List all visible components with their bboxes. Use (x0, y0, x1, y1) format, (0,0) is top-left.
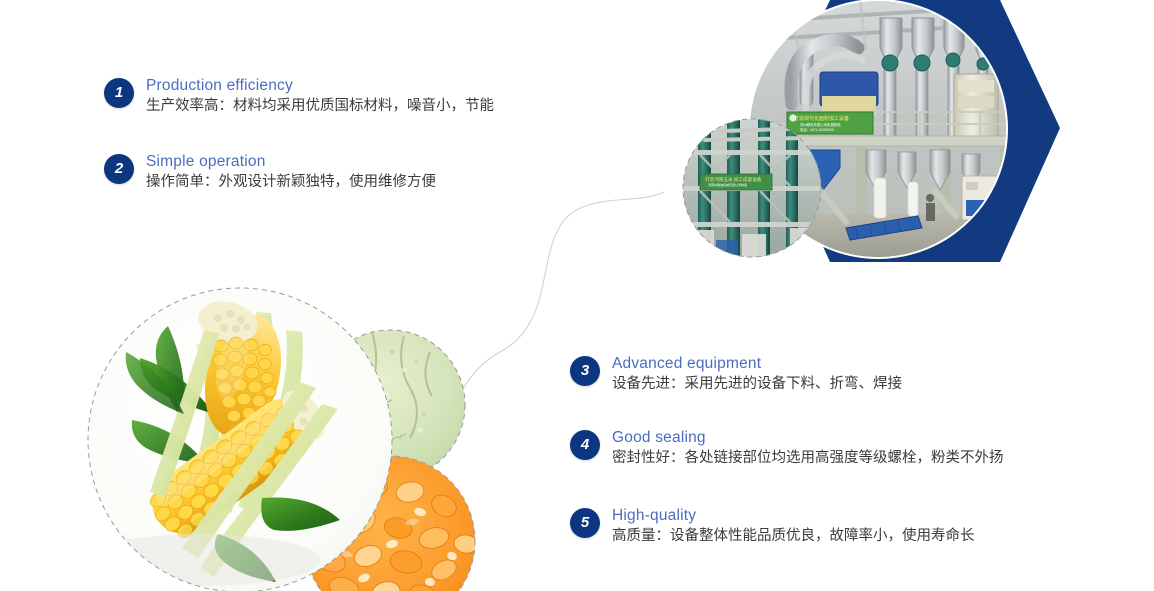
feature-item-5[interactable]: 5 High-quality 高质量：设备整体性能品质优良，故障率小，使用寿命长 (570, 506, 975, 547)
svg-text:打造河南玉米 加工成套设备: 打造河南玉米 加工成套设备 (705, 176, 762, 183)
feature-text-2: Simple operation 操作简单：外观设计新颖独特，使用维修方便 (146, 152, 436, 193)
corn-flour-milling-machine-photo: 打造现代化面粉加工设备 郑州粮机有限公司机械制造 电话：0371-0000000… (748, 0, 1016, 260)
feature-item-3[interactable]: 3 Advanced equipment 设备先进：采用先进的设备下料、折弯、焊… (570, 354, 902, 395)
feature-title-1: Production efficiency (146, 76, 494, 95)
feature-text-3: Advanced equipment 设备先进：采用先进的设备下料、折弯、焊接 (612, 354, 902, 395)
feature-item-1[interactable]: 1 Production efficiency 生产效率高：材料均采用优质国标材… (104, 76, 494, 117)
feature-badge-1: 1 (104, 78, 134, 108)
svg-text:河南省粮油机械有限公司制造: 河南省粮油机械有限公司制造 (708, 182, 747, 187)
feature-badge-3: 3 (570, 356, 600, 386)
feature-desc-5: 高质量：设备整体性能品质优良，故障率小，使用寿命长 (612, 525, 975, 547)
feature-badge-2: 2 (104, 154, 134, 184)
feature-title-2: Simple operation (146, 152, 436, 171)
feature-desc-4: 密封性好：各处链接部位均选用高强度等级螺栓，粉类不外扬 (612, 447, 1004, 469)
feature-item-2[interactable]: 2 Simple operation 操作简单：外观设计新颖独特，使用维修方便 (104, 152, 436, 193)
svg-text:电话：0371-00000000: 电话：0371-00000000 (800, 127, 834, 132)
hexagon-frame (770, 0, 1060, 262)
corn-cob-photo (80, 288, 392, 591)
feature-desc-2: 操作简单：外观设计新颖独特，使用维修方便 (146, 171, 436, 193)
feature-title-5: High-quality (612, 506, 975, 525)
green-maize-mill-photo: 打造河南玉米 加工成套设备 河南省粮油机械有限公司制造 (683, 119, 821, 257)
feature-title-4: Good sealing (612, 428, 1004, 447)
corn-flour-photo (315, 330, 465, 480)
feature-item-4[interactable]: 4 Good sealing 密封性好：各处链接部位均选用高强度等级螺栓，粉类不… (570, 428, 1004, 469)
feature-text-4: Good sealing 密封性好：各处链接部位均选用高强度等级螺栓，粉类不外扬 (612, 428, 1004, 469)
corn-grits-photo (305, 456, 479, 591)
feature-badge-4: 4 (570, 430, 600, 460)
feature-desc-1: 生产效率高：材料均采用优质国标材料，噪音小，节能 (146, 95, 494, 117)
svg-text:郑州粮机有限公司机械制造: 郑州粮机有限公司机械制造 (800, 122, 841, 127)
svg-text:打造现代化面粉加工设备: 打造现代化面粉加工设备 (794, 115, 849, 122)
feature-text-5: High-quality 高质量：设备整体性能品质优良，故障率小，使用寿命长 (612, 506, 975, 547)
infographic-page: 打造现代化面粉加工设备 郑州粮机有限公司机械制造 电话：0371-0000000… (0, 0, 1154, 591)
s-curve-connector (378, 192, 664, 466)
feature-badge-5: 5 (570, 508, 600, 538)
feature-text-1: Production efficiency 生产效率高：材料均采用优质国标材料，… (146, 76, 494, 117)
feature-desc-3: 设备先进：采用先进的设备下料、折弯、焊接 (612, 373, 902, 395)
feature-title-3: Advanced equipment (612, 354, 902, 373)
